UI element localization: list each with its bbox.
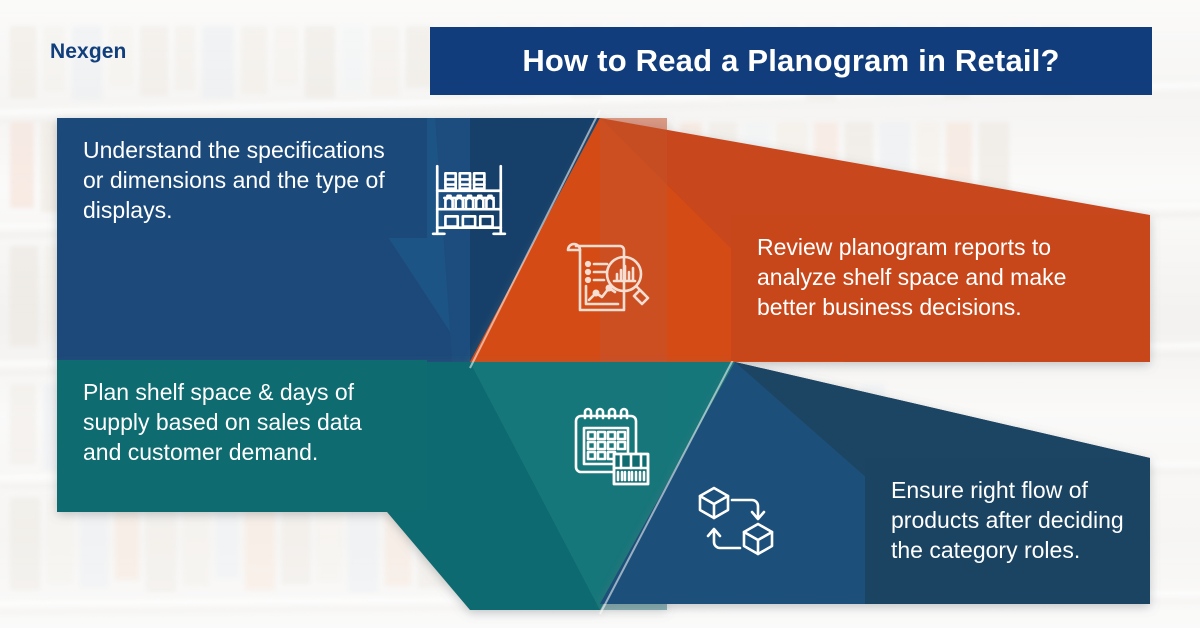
infographic-canvas: Nexgen How to Read a Planogram in Retail… [0, 0, 1200, 628]
calendar-box-icon [568, 404, 656, 492]
step-panel-bottom-left: Plan shelf space & days of supply based … [57, 360, 427, 510]
step-text-ensure-product-flow: Ensure right flow of products after deci… [891, 476, 1124, 566]
step-panel-top-right: Review planogram reports to analyze shel… [731, 215, 1150, 361]
report-magnifier-icon [562, 234, 654, 322]
page-title: How to Read a Planogram in Retail? [522, 43, 1059, 79]
title-bar: How to Read a Planogram in Retail? [430, 27, 1152, 95]
step-panel-top-left: Understand the specifications or dimensi… [57, 118, 427, 238]
step-panel-bottom-right: Ensure right flow of products after deci… [865, 458, 1150, 604]
brand-logo-text: Nexgen [50, 40, 126, 64]
step-text-plan-shelf-space: Plan shelf space & days of supply based … [83, 378, 401, 468]
step-text-review-planogram-reports: Review planogram reports to analyze shel… [757, 233, 1124, 323]
step-text-understand-specifications: Understand the specifications or dimensi… [83, 136, 401, 226]
box-flow-arrows-icon [694, 482, 780, 568]
shelf-rack-icon [428, 160, 510, 242]
